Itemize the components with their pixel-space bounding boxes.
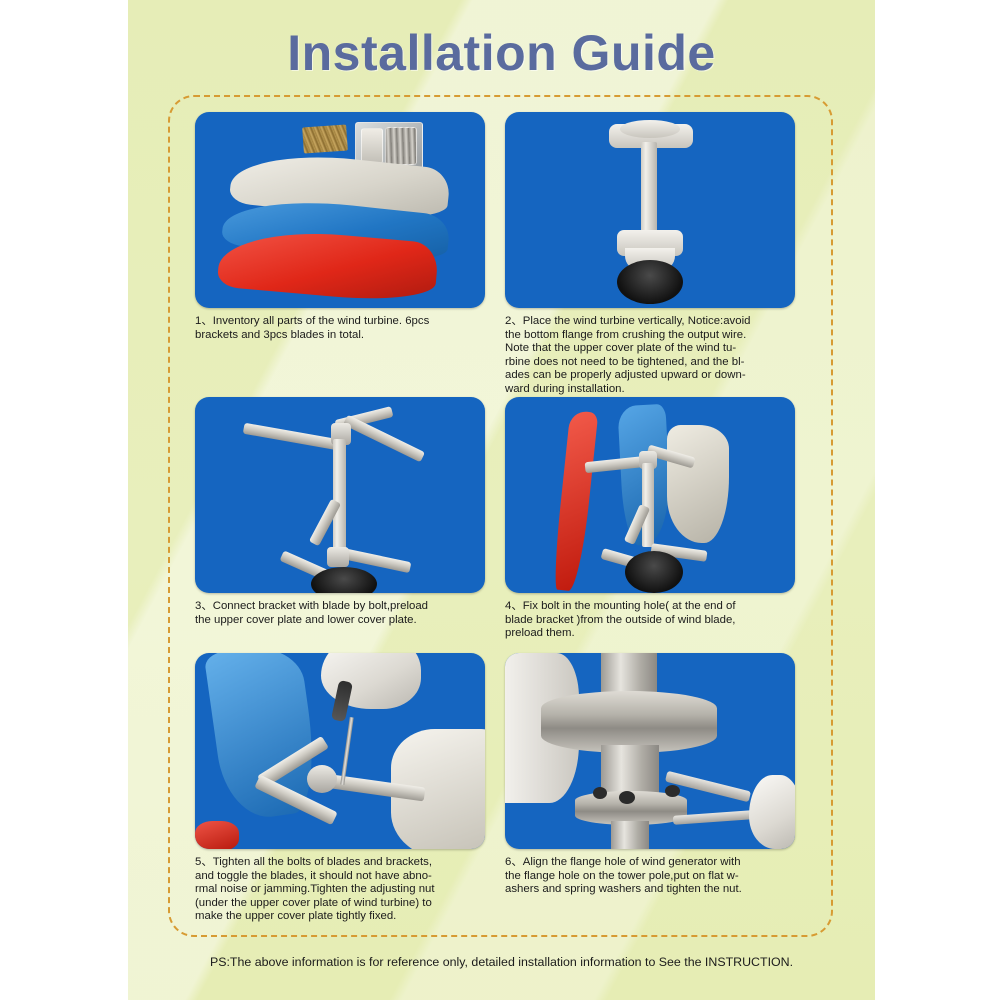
white-blade-icon: [667, 425, 729, 543]
screwdriver-shaft-icon: [340, 717, 353, 785]
step-4-photo-blades-mounted: [505, 397, 795, 593]
step-1-photo-parts-inventory: [195, 112, 485, 308]
step-5-photo-tightening-bolts: [195, 653, 485, 849]
red-blade-edge-icon: [195, 821, 239, 849]
upper-hub-icon: [620, 120, 680, 138]
step-1: 1、Inventory all parts of the wind turbin…: [195, 112, 495, 342]
hub-cap-icon: [307, 765, 337, 793]
upper-arm-left-icon: [243, 423, 339, 451]
step-6-caption: 6、Align the flange hole of wind generato…: [505, 856, 797, 897]
installation-guide-poster: Installation Guide 1、Inventory all parts…: [128, 0, 875, 1000]
step-6: 6、Align the flange hole of wind generato…: [505, 653, 805, 897]
footer-note: PS:The above information is for referenc…: [128, 955, 875, 969]
black-base-icon: [625, 551, 683, 593]
bracket-piece-icon: [361, 128, 383, 164]
bracket-stack-icon: [385, 127, 417, 165]
lower-hub-icon: [327, 547, 349, 567]
step-4: 4、Fix bolt in the mounting hole( at the …: [505, 397, 805, 641]
step-3: 3、Connect bracket with blade by bolt,pre…: [195, 397, 495, 627]
black-base-icon: [617, 260, 683, 304]
step-2: 2、Place the wind turbine vertically, Not…: [505, 112, 805, 397]
flange-bolt-icon: [593, 787, 607, 799]
step-1-caption: 1、Inventory all parts of the wind turbin…: [195, 315, 487, 342]
red-blade-icon: [552, 410, 599, 592]
step-4-caption: 4、Fix bolt in the mounting hole( at the …: [505, 600, 797, 641]
page-title: Installation Guide: [128, 24, 875, 82]
upper-arm-right-icon: [343, 415, 425, 463]
step-5: 5、Tighten all the bolts of blades and br…: [195, 653, 495, 924]
step-2-photo-vertical-turbine: [505, 112, 795, 308]
step-5-caption: 5、Tighten all the bolts of blades and br…: [195, 856, 487, 924]
center-shaft-icon: [333, 439, 346, 551]
step-3-photo-brackets-connected: [195, 397, 485, 593]
gloved-hand-icon: [749, 775, 795, 849]
tower-pole-icon: [611, 821, 649, 849]
flange-bolt-icon: [619, 791, 635, 804]
flange-bolt-icon: [665, 785, 680, 797]
steps-grid: 1、Inventory all parts of the wind turbin…: [168, 95, 833, 937]
black-base-icon: [311, 567, 377, 593]
generator-flange-icon: [541, 691, 717, 753]
screw-bag-icon: [302, 124, 348, 153]
step-3-caption: 3、Connect bracket with blade by bolt,pre…: [195, 600, 487, 627]
step-6-photo-flange-alignment: [505, 653, 795, 849]
step-2-caption: 2、Place the wind turbine vertically, Not…: [505, 315, 797, 397]
